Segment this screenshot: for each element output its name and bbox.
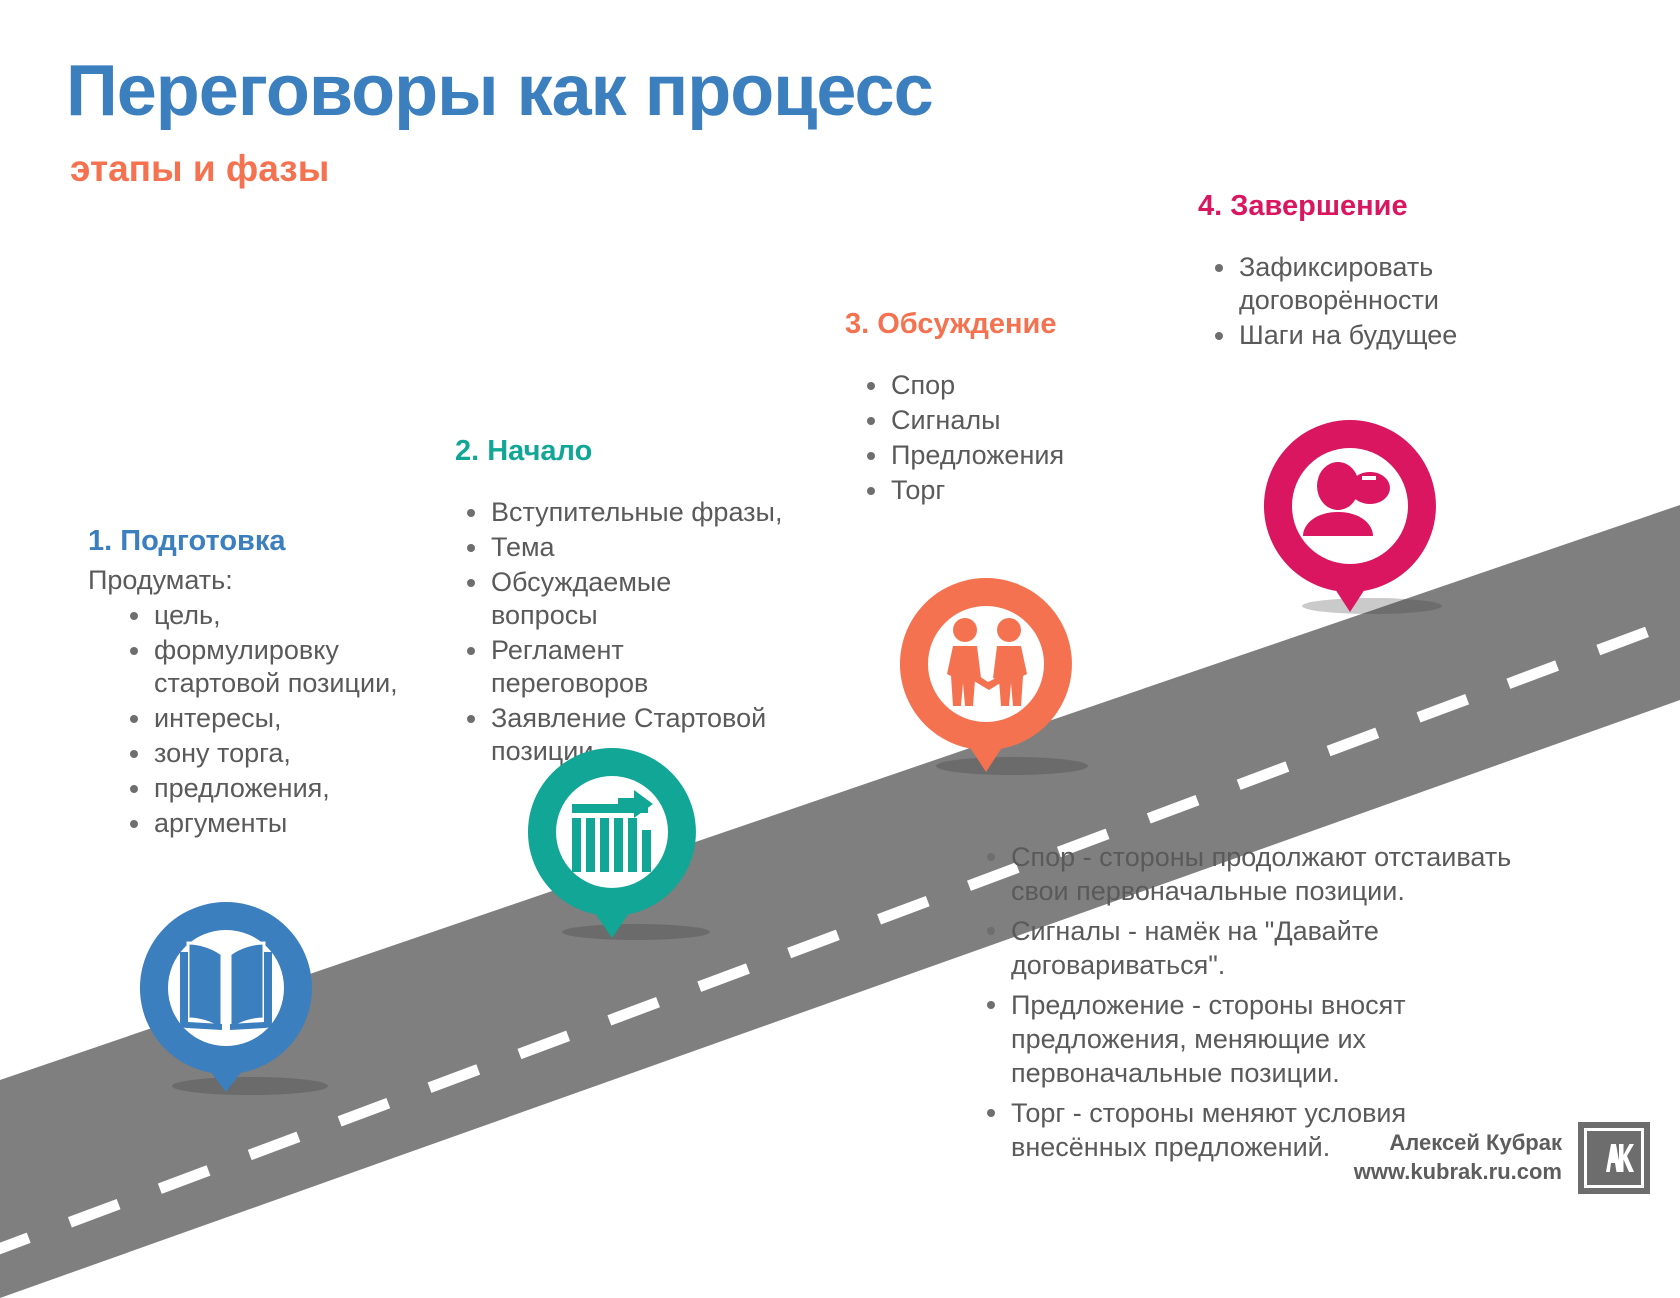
list-item: интересы,	[118, 702, 418, 735]
author-website[interactable]: www.kubrak.ru.com	[1354, 1158, 1562, 1187]
step-1-heading: 1. Подготовка	[88, 525, 418, 558]
step-2-list: Вступительные фразы, Тема Обсуждаемые во…	[455, 496, 785, 768]
list-item: предложения,	[118, 772, 418, 805]
signature-text: Алексей Кубрак www.kubrak.ru.com	[1354, 1129, 1562, 1186]
pin-3-shape	[880, 558, 1096, 790]
author-signature: Алексей Кубрак www.kubrak.ru.com	[1255, 1122, 1650, 1194]
page-title: Переговоры как процесс	[66, 50, 933, 132]
pin-1-shape	[118, 880, 334, 1110]
list-item: Регламент переговоров	[455, 634, 785, 700]
page-subtitle: этапы и фазы	[70, 148, 329, 190]
list-item: аргументы	[118, 807, 418, 840]
step-block-3: 3. Обсуждение Спор Сигналы Предложения Т…	[845, 308, 1145, 509]
ak-monogram-icon	[1592, 1136, 1636, 1180]
list-item: Предложения	[855, 439, 1145, 472]
list-item: Сигналы	[855, 404, 1145, 437]
step-block-1: 1. Подготовка Продумать: цель, формулиро…	[88, 525, 418, 842]
ak-logo	[1578, 1122, 1650, 1194]
author-name: Алексей Кубрак	[1354, 1129, 1562, 1158]
list-item: Зафиксировать договорённости	[1203, 251, 1498, 317]
list-item: Предложение - стороны вносят предложения…	[975, 988, 1535, 1090]
infographic-canvas: Переговоры как процесс этапы и фазы 1. П…	[0, 0, 1680, 1298]
pin-4-shape	[1242, 400, 1458, 632]
list-item: Спор - стороны продолжают отстаивать сво…	[975, 840, 1535, 908]
map-pin-step-4[interactable]	[1242, 400, 1458, 637]
list-item: цель,	[118, 599, 418, 632]
discussion-notes: Спор - стороны продолжают отстаивать сво…	[975, 840, 1535, 1170]
pin-2-shape	[508, 728, 720, 956]
list-item: Шаги на будущее	[1203, 319, 1498, 352]
list-item: Тема	[455, 531, 785, 564]
step-1-list: цель, формулировку стартовой позиции, ин…	[118, 599, 418, 840]
list-item: Торг	[855, 474, 1145, 507]
map-pin-step-1[interactable]	[118, 880, 334, 1115]
list-item: Спор	[855, 369, 1145, 402]
step-3-heading: 3. Обсуждение	[845, 308, 1145, 341]
step-2-heading: 2. Начало	[455, 435, 785, 468]
map-pin-step-2[interactable]	[508, 728, 720, 961]
list-item: зону торга,	[118, 737, 418, 770]
map-pin-step-3[interactable]	[880, 558, 1096, 795]
step-3-list: Спор Сигналы Предложения Торг	[855, 369, 1145, 507]
list-item: Обсуждаемые вопросы	[455, 566, 785, 632]
notes-list: Спор - стороны продолжают отстаивать сво…	[975, 840, 1535, 1164]
ak-logo-frame	[1584, 1128, 1644, 1188]
step-4-list: Зафиксировать договорённости Шаги на буд…	[1203, 251, 1498, 352]
list-item: Сигналы - намёк на "Давайте договаривать…	[975, 914, 1535, 982]
step-1-lead: Продумать:	[88, 564, 418, 597]
step-block-2: 2. Начало Вступительные фразы, Тема Обсу…	[455, 435, 785, 770]
step-4-heading: 4. Завершение	[1198, 190, 1498, 223]
step-block-4: 4. Завершение Зафиксировать договорённос…	[1198, 190, 1498, 354]
list-item: формулировку стартовой позиции,	[118, 634, 418, 700]
list-item: Вступительные фразы,	[455, 496, 785, 529]
